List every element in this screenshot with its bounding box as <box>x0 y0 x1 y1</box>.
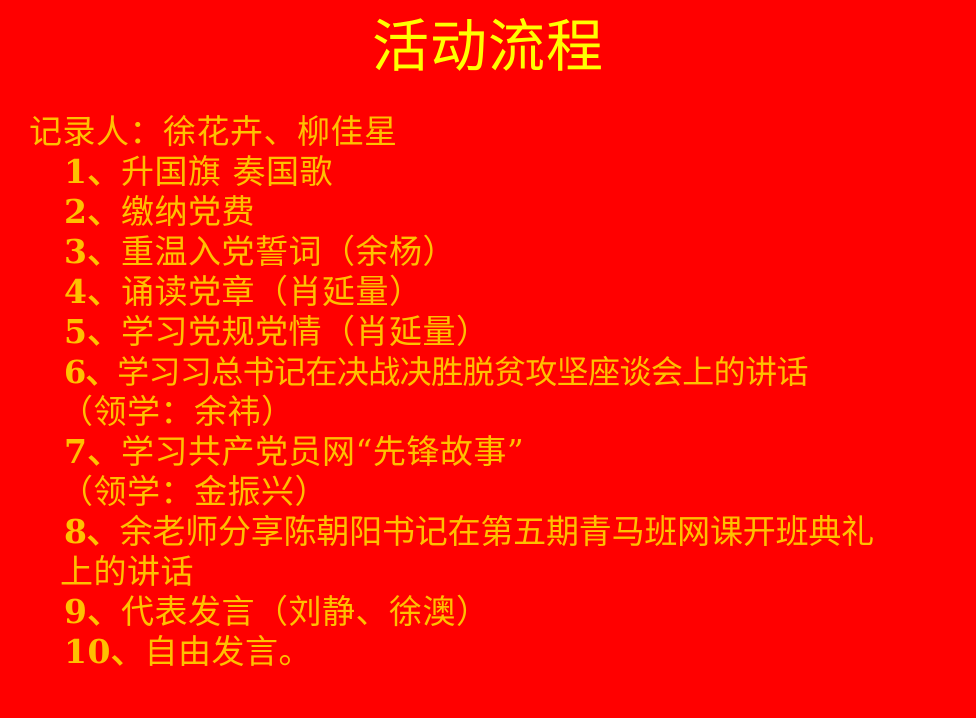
item-number: 3、 <box>64 232 121 271</box>
list-item: 9、代表发言（刘静、徐澳） <box>64 592 976 632</box>
item-text: 余老师分享陈朝阳书记在第五期青马班网课开班典礼 <box>120 512 874 551</box>
recorder-line: 记录人：徐花卉、柳佳星 <box>29 112 976 152</box>
list-item: 3、重温入党誓词（余杨） <box>64 232 976 272</box>
list-item: 8、余老师分享陈朝阳书记在第五期青马班网课开班典礼 <box>64 512 976 552</box>
list-item: 7、学习共产党员网“先锋故事” <box>64 432 976 472</box>
item-number: 6、 <box>64 353 117 391</box>
list-item: 1、升国旗 奏国歌 <box>64 152 976 192</box>
item-number: 2、 <box>64 192 121 231</box>
list-item-continuation: 上的讲话 <box>60 552 976 592</box>
item-text: 诵读党章（肖延量） <box>121 272 423 311</box>
list-item: 4、诵读党章（肖延量） <box>64 272 976 312</box>
list-item-continuation: （领学：金振兴） <box>60 472 976 512</box>
presentation-slide: 活动流程 记录人：徐花卉、柳佳星 1、升国旗 奏国歌 2、缴纳党费 3、重温入党… <box>0 0 976 718</box>
slide-title: 活动流程 <box>0 14 976 80</box>
item-number: 7、 <box>64 432 121 471</box>
agenda-list: 记录人：徐花卉、柳佳星 1、升国旗 奏国歌 2、缴纳党费 3、重温入党誓词（余杨… <box>0 112 976 672</box>
item-text: 学习党规党情（肖延量） <box>121 312 490 351</box>
item-number: 8、 <box>64 512 120 551</box>
item-number: 9、 <box>64 592 121 631</box>
list-item: 10、自由发言。 <box>64 632 976 672</box>
list-item: 6、学习习总书记在决战决胜脱贫攻坚座谈会上的讲话 <box>64 352 976 392</box>
item-number: 1、 <box>64 152 121 191</box>
item-text: 学习习总书记在决战决胜脱贫攻坚座谈会上的讲话 <box>117 353 808 391</box>
item-number: 5、 <box>64 312 121 351</box>
list-item-continuation: （领学：余祎） <box>60 392 976 432</box>
item-number: 10、 <box>64 632 144 671</box>
item-text: 自由发言。 <box>144 632 312 671</box>
item-text: 代表发言（刘静、徐澳） <box>121 592 490 631</box>
item-text: 重温入党誓词（余杨） <box>121 232 456 271</box>
item-text: 学习共产党员网“先锋故事” <box>121 432 524 471</box>
list-item: 5、学习党规党情（肖延量） <box>64 312 976 352</box>
item-text: 缴纳党费 <box>121 192 255 231</box>
list-item: 2、缴纳党费 <box>64 192 976 232</box>
item-text: 升国旗 奏国歌 <box>121 152 333 191</box>
item-number: 4、 <box>64 272 121 311</box>
